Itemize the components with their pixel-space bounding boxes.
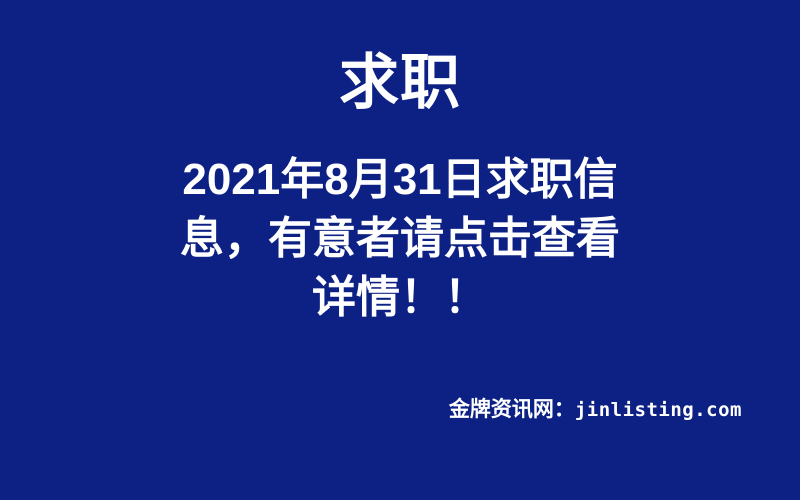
announcement-line: 息，有意者请点击查看: [160, 209, 640, 268]
page-title: 求职: [0, 48, 800, 118]
site-url-label: jinlisting.com: [575, 399, 742, 421]
site-brand-label: 金牌资讯网：: [449, 398, 575, 421]
announcement-line: 2021年8月31日求职信: [160, 150, 640, 209]
announcement-line: 详情！！: [160, 268, 640, 327]
site-watermark: 金牌资讯网：jinlisting.com: [0, 393, 800, 423]
promo-poster: 求职 2021年8月31日求职信 息，有意者请点击查看 详情！！ 金牌资讯网：j…: [0, 0, 800, 500]
announcement-text: 2021年8月31日求职信 息，有意者请点击查看 详情！！: [160, 150, 640, 327]
